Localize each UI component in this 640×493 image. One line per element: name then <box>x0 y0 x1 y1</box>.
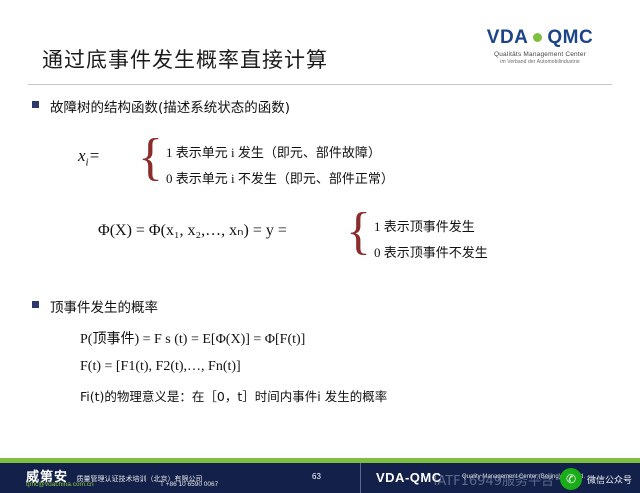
footer-email[interactable]: qmc@vdachina.com.cn <box>26 481 94 488</box>
square-bullet-icon-2 <box>32 301 39 308</box>
case-brace-icon-2: { <box>346 206 371 258</box>
footer-divider <box>360 463 361 493</box>
case-line-1: 1 表示单元 i 发生（即元、部件故障） <box>166 142 381 161</box>
watermark: ✆ 微信公众号 <box>560 468 632 490</box>
formula-lhs-xi: xi= <box>78 146 100 168</box>
equation-3: Fi(t)的物理意义是：在［0，t］时间内事件i 发生的概率 <box>80 386 612 405</box>
slide-header: 通过底事件发生概率直接计算 VDA QMC Qualitäts Manageme… <box>28 22 612 84</box>
bullet-item-1: 故障树的结构函数(描述系统状态的函数) <box>28 96 612 116</box>
xi-equals: = <box>89 146 100 165</box>
page-number: 63 <box>312 472 321 481</box>
vda-qmc-logo: VDA QMC Qualitäts Management Center im V… <box>474 28 606 65</box>
watermark-ghost-text: IATF16949服务平台 <box>434 470 555 489</box>
footer-brand: VDA-QMC <box>376 470 442 485</box>
equation-list: P(顶事件) = F s (t) = E[Φ(X)] = Φ[F(t)] F(t… <box>80 328 612 405</box>
square-bullet-icon <box>32 101 39 108</box>
page-title: 通过底事件发生概率直接计算 <box>42 44 328 74</box>
xi-symbol: x <box>78 146 86 165</box>
equation-2: F(t) = [F1(t), F2(t),…, Fn(t)] <box>80 359 612 375</box>
slide: 通过底事件发生概率直接计算 VDA QMC Qualitäts Manageme… <box>0 0 640 493</box>
bullet-item-2: 顶事件发生的概率 <box>28 296 612 316</box>
formula-phi-expression: Φ(X) = Φ(x₁, x₂,…, xₙ) = y = <box>98 220 287 240</box>
footer-telephone: T +86 10 6590 0067 <box>160 481 218 488</box>
slide-footer: 威第安 质量管理认证技术培训（北京）有限公司 qmc@vdachina.com.… <box>0 463 640 493</box>
logo-subtitle-de2: im Verband der Automobilindustrie <box>474 59 606 65</box>
bullet-label-1: 故障树的结构函数(描述系统状态的函数) <box>50 100 290 116</box>
formula-structure-function: xi= { 1 表示单元 i 发生（即元、部件故障） 0 表示单元 i 不发生（… <box>68 130 612 190</box>
slide-content: 故障树的结构函数(描述系统状态的函数) xi= { 1 表示单元 i 发生（即元… <box>28 96 612 431</box>
watermark-text: 微信公众号 <box>587 473 632 486</box>
case-line-4: 0 表示顶事件不发生 <box>374 242 488 261</box>
equation-1: P(顶事件) = F s (t) = E[Φ(X)] = Φ[F(t)] <box>80 328 612 348</box>
case-brace-icon: { <box>138 132 163 184</box>
case-line-3: 1 表示顶事件发生 <box>374 216 475 235</box>
bullet-label-2: 顶事件发生的概率 <box>50 300 158 316</box>
case-line-2: 0 表示单元 i 不发生（即元、部件正常） <box>166 168 394 187</box>
wechat-icon: ✆ <box>560 468 582 490</box>
title-divider <box>28 84 612 85</box>
green-dot-icon <box>533 33 542 42</box>
logo-vda-text: VDA <box>487 28 529 47</box>
logo-subtitle-de: Qualitäts Management Center <box>474 51 606 58</box>
formula-phi-function: Φ(X) = Φ(x₁, x₂,…, xₙ) = y = { 1 表示顶事件发生… <box>68 204 612 262</box>
logo-wordmark: VDA QMC <box>474 28 606 47</box>
logo-qmc-text: QMC <box>547 28 593 47</box>
